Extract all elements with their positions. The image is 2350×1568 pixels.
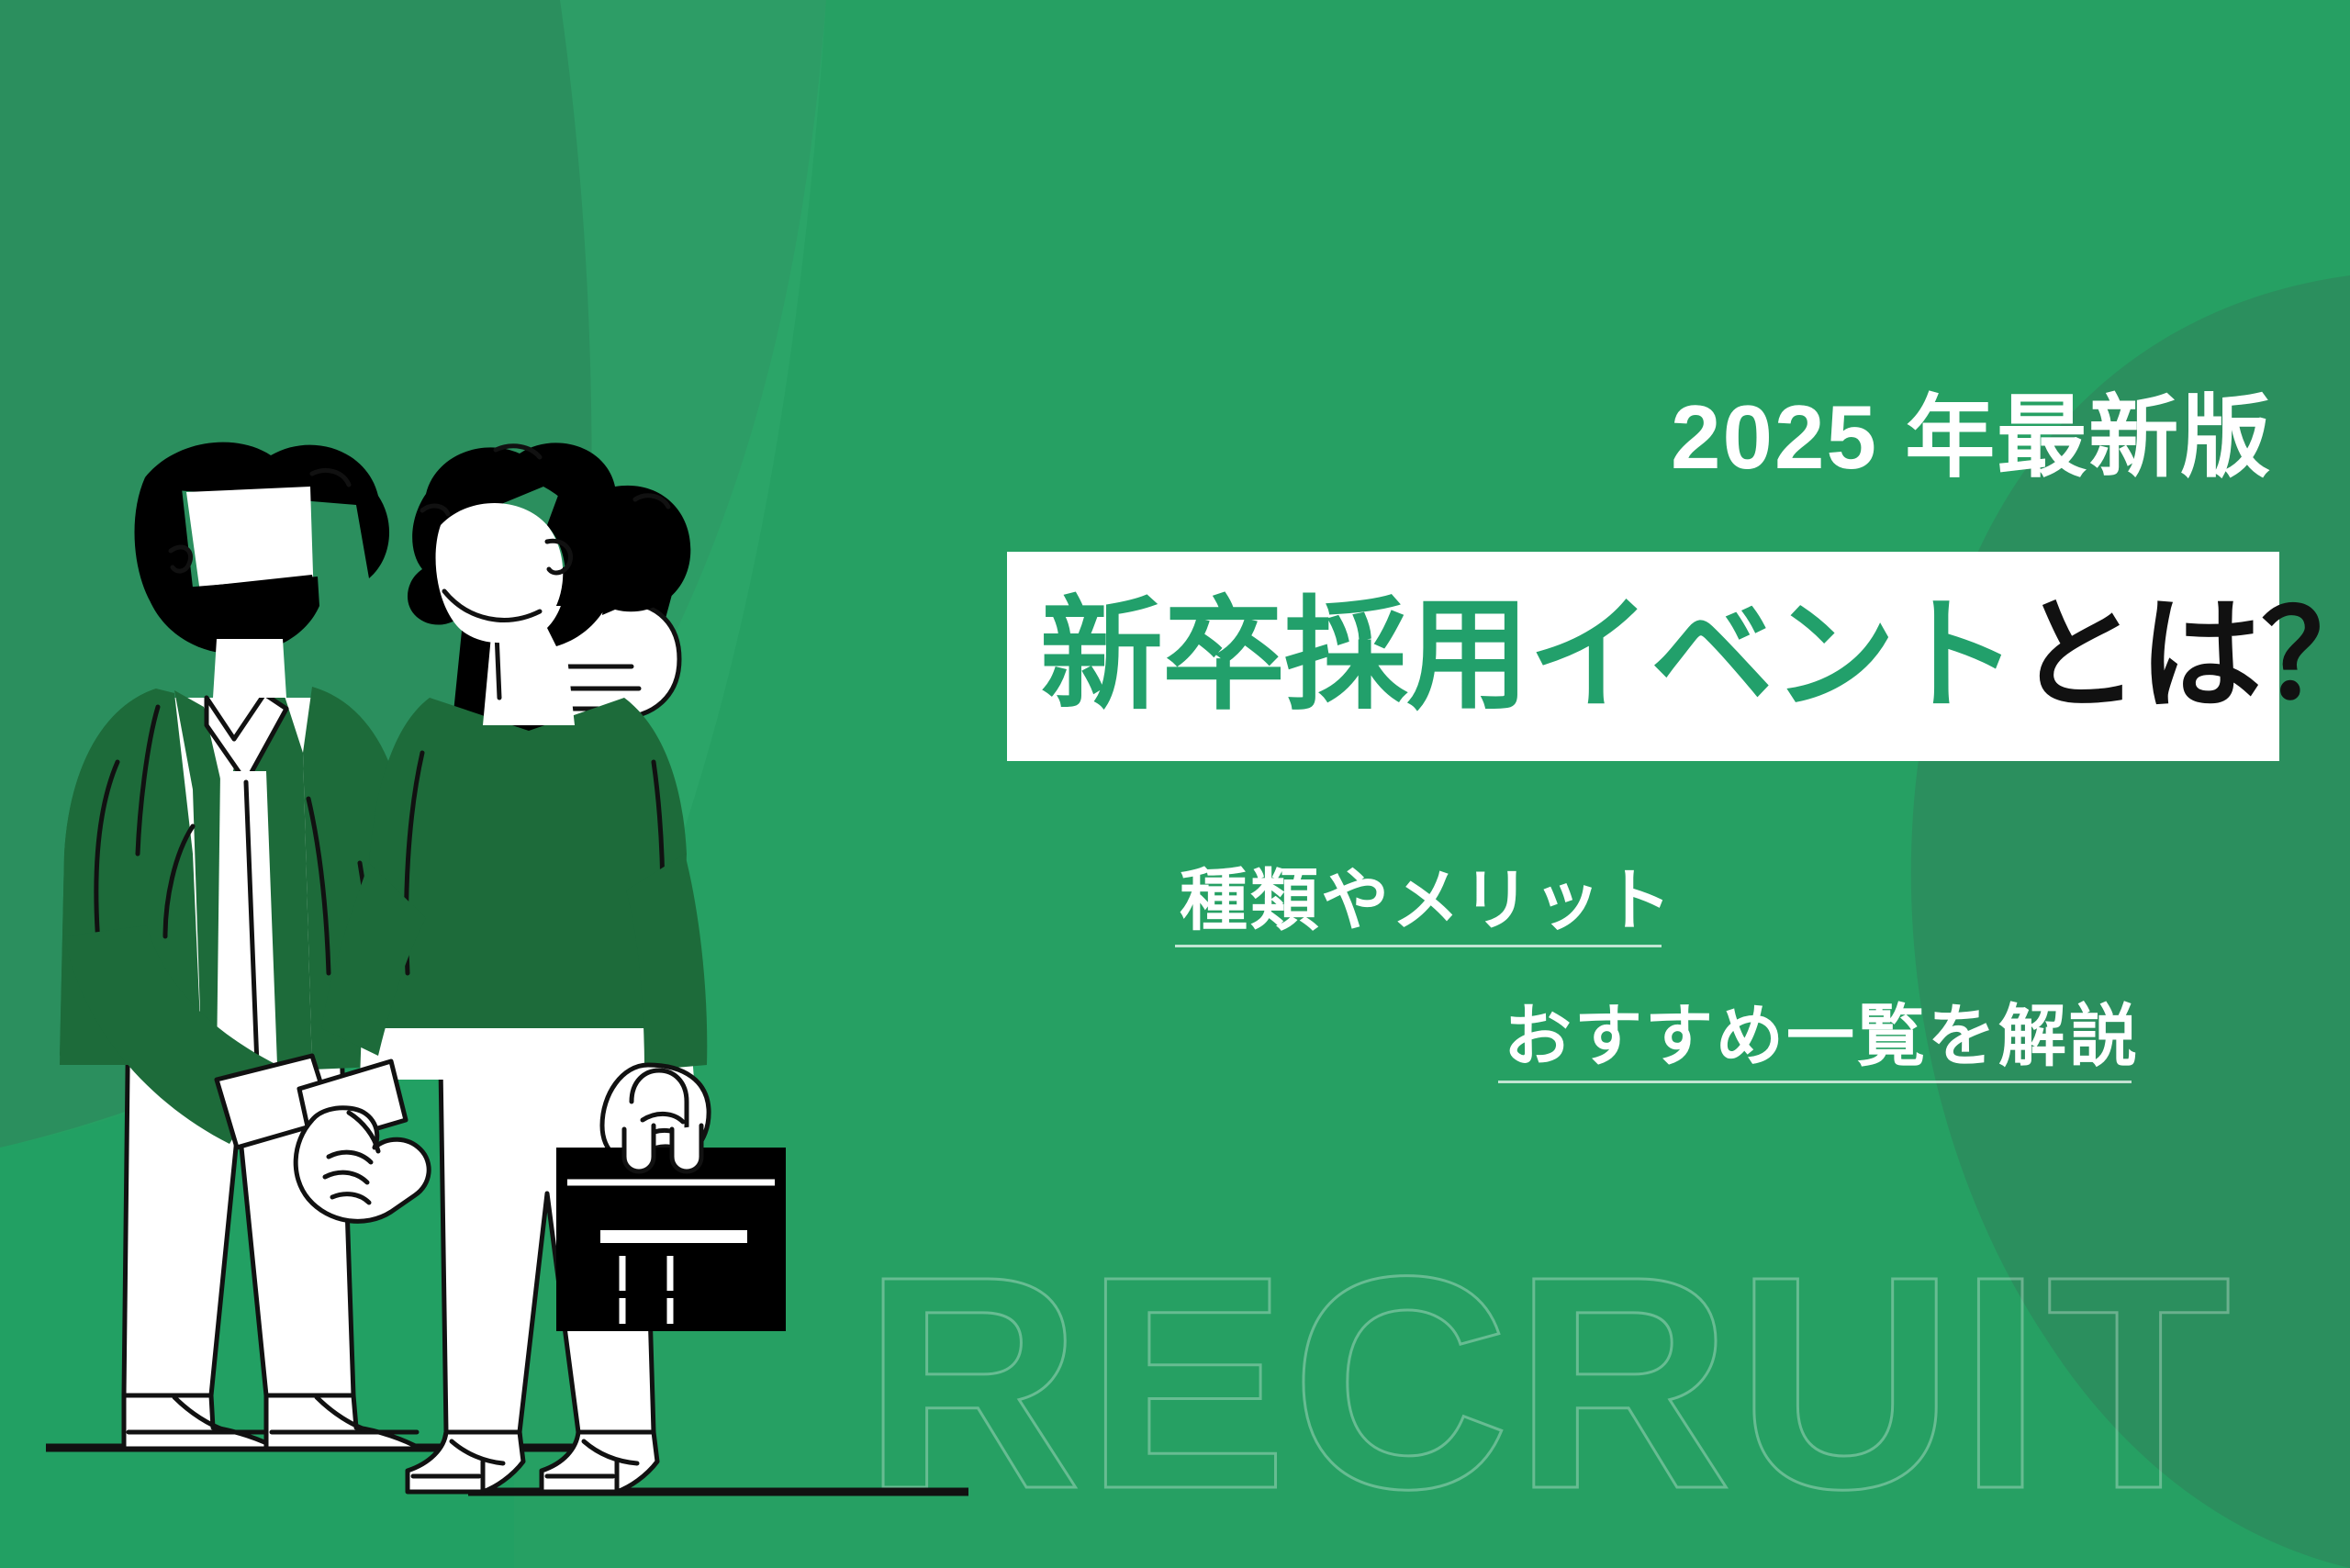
- two-people-handshake-illustration: .ln { fill:none; stroke:#111; stroke-wid…: [37, 422, 973, 1533]
- subtitle-rule-1: [1175, 945, 1662, 947]
- subtitle-rule-2: [1498, 1081, 2132, 1083]
- woman-shoe-right: [542, 1432, 657, 1492]
- eyebrow-year-label: 2025 年最新版: [1671, 390, 2313, 485]
- briefcase-handle-left: [624, 1126, 654, 1171]
- man-shoe-right: [266, 1395, 420, 1449]
- subtitle-line-1: 種類やメリット: [1180, 867, 1674, 935]
- handshake: [296, 1108, 429, 1222]
- briefcase-handle-right: [672, 1126, 701, 1171]
- title-box: 新卒採用イベントとは？: [1007, 552, 2279, 761]
- banner-canvas: RECRUIT .ln { fill:none; stroke:#111; st…: [0, 0, 2350, 1568]
- title-highlight: 新卒採用イベント: [1040, 588, 2017, 724]
- man-neck: [213, 639, 286, 698]
- briefcase-clasp: [600, 1230, 747, 1243]
- title-tail: とは？: [2017, 588, 2350, 724]
- man-shoe-left: [124, 1395, 277, 1449]
- subtitle-line-2: おすすめ一覧を解説: [1504, 1002, 2140, 1070]
- figure-woman: [299, 442, 786, 1492]
